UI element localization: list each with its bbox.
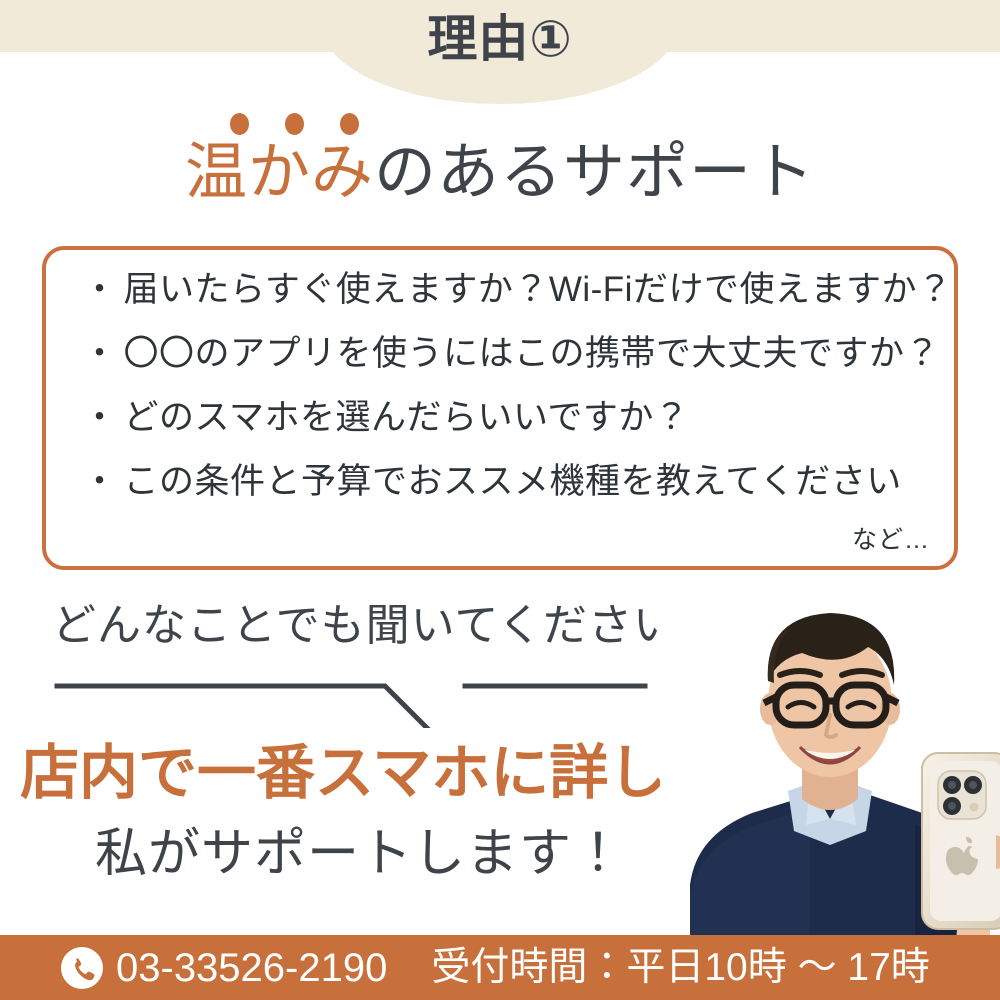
emphasis-dot bbox=[230, 113, 249, 135]
list-item: ・ 〇〇のアプリを使うにはこの携帯で大丈夫ですか？ bbox=[82, 336, 936, 371]
phone-number[interactable]: 03-33526-2190 bbox=[116, 948, 387, 988]
list-item-label: どのスマホを選んだらいいですか？ bbox=[124, 400, 690, 435]
list-item: ・ この条件と予算でおススメ機種を教えてください bbox=[82, 464, 936, 499]
list-item-label: この条件と予算でおススメ機種を教えてください bbox=[124, 464, 902, 499]
emphasis-dot bbox=[340, 113, 359, 135]
bullet-marker: ・ bbox=[82, 336, 118, 371]
list-item: ・ どのスマホを選んだらいいですか？ bbox=[82, 400, 936, 435]
bullet-marker: ・ bbox=[82, 400, 118, 435]
page-title: 温かみのあるサポート bbox=[0, 140, 1000, 207]
reason-badge-label: 理由① bbox=[0, 14, 1000, 64]
promo-poster: 理由① 温かみのあるサポート ・ 届いたらすぐ使えますか？Wi-Fiだけで使えま… bbox=[0, 0, 1000, 1000]
question-list: ・ 届いたらすぐ使えますか？Wi-Fiだけで使えますか？ ・ 〇〇のアプリを使う… bbox=[82, 272, 936, 528]
page-title-highlight: 温かみ bbox=[185, 138, 374, 207]
question-box: ・ 届いたらすぐ使えますか？Wi-Fiだけで使えますか？ ・ 〇〇のアプリを使う… bbox=[42, 246, 958, 570]
contact-footer: 03-33526-2190 受付時間：平日10時 〜 17時 bbox=[0, 935, 1000, 1000]
lead-text: どんなことでも聞いてください！ bbox=[52, 604, 723, 648]
list-item-label: 〇〇のアプリを使うにはこの携帯で大丈夫ですか？ bbox=[124, 336, 941, 371]
bullet-marker: ・ bbox=[82, 272, 118, 307]
headline-primary: 店内で一番スマホに詳しい bbox=[20, 744, 720, 803]
business-hours: 受付時間：平日10時 〜 17時 bbox=[431, 948, 929, 987]
phone-handset-icon[interactable] bbox=[60, 946, 104, 990]
emphasis-dots bbox=[228, 113, 388, 139]
question-box-note: など… bbox=[852, 520, 930, 556]
page-title-rest: のあるサポート bbox=[374, 138, 815, 207]
staff-photo-illustration bbox=[660, 585, 1000, 940]
staff-photo bbox=[660, 585, 1000, 940]
speech-bubble-underline-icon bbox=[50, 668, 660, 728]
list-item: ・ 届いたらすぐ使えますか？Wi-Fiだけで使えますか？ bbox=[82, 272, 936, 307]
headline-secondary: 私がサポートします！ bbox=[20, 828, 700, 880]
list-item-label: 届いたらすぐ使えますか？Wi-Fiだけで使えますか？ bbox=[124, 272, 953, 307]
emphasis-dot bbox=[285, 113, 304, 135]
bullet-marker: ・ bbox=[82, 464, 118, 499]
